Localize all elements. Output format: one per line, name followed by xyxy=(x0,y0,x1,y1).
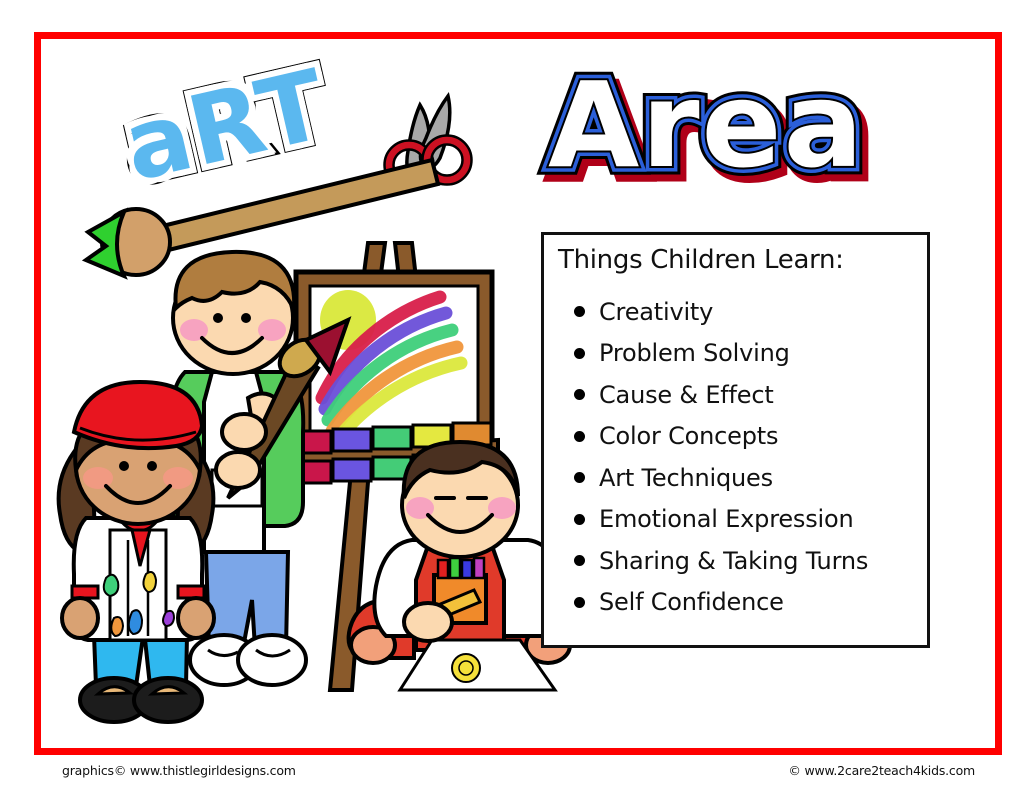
site-credit: © www.2care2teach4kids.com xyxy=(788,763,975,778)
poster-border xyxy=(34,32,1002,755)
graphics-credit: graphics© www.thistlegirldesigns.com xyxy=(62,763,296,778)
art-area-poster: aRT aRT aRT Area Area Area Area Area Thi… xyxy=(0,0,1035,800)
